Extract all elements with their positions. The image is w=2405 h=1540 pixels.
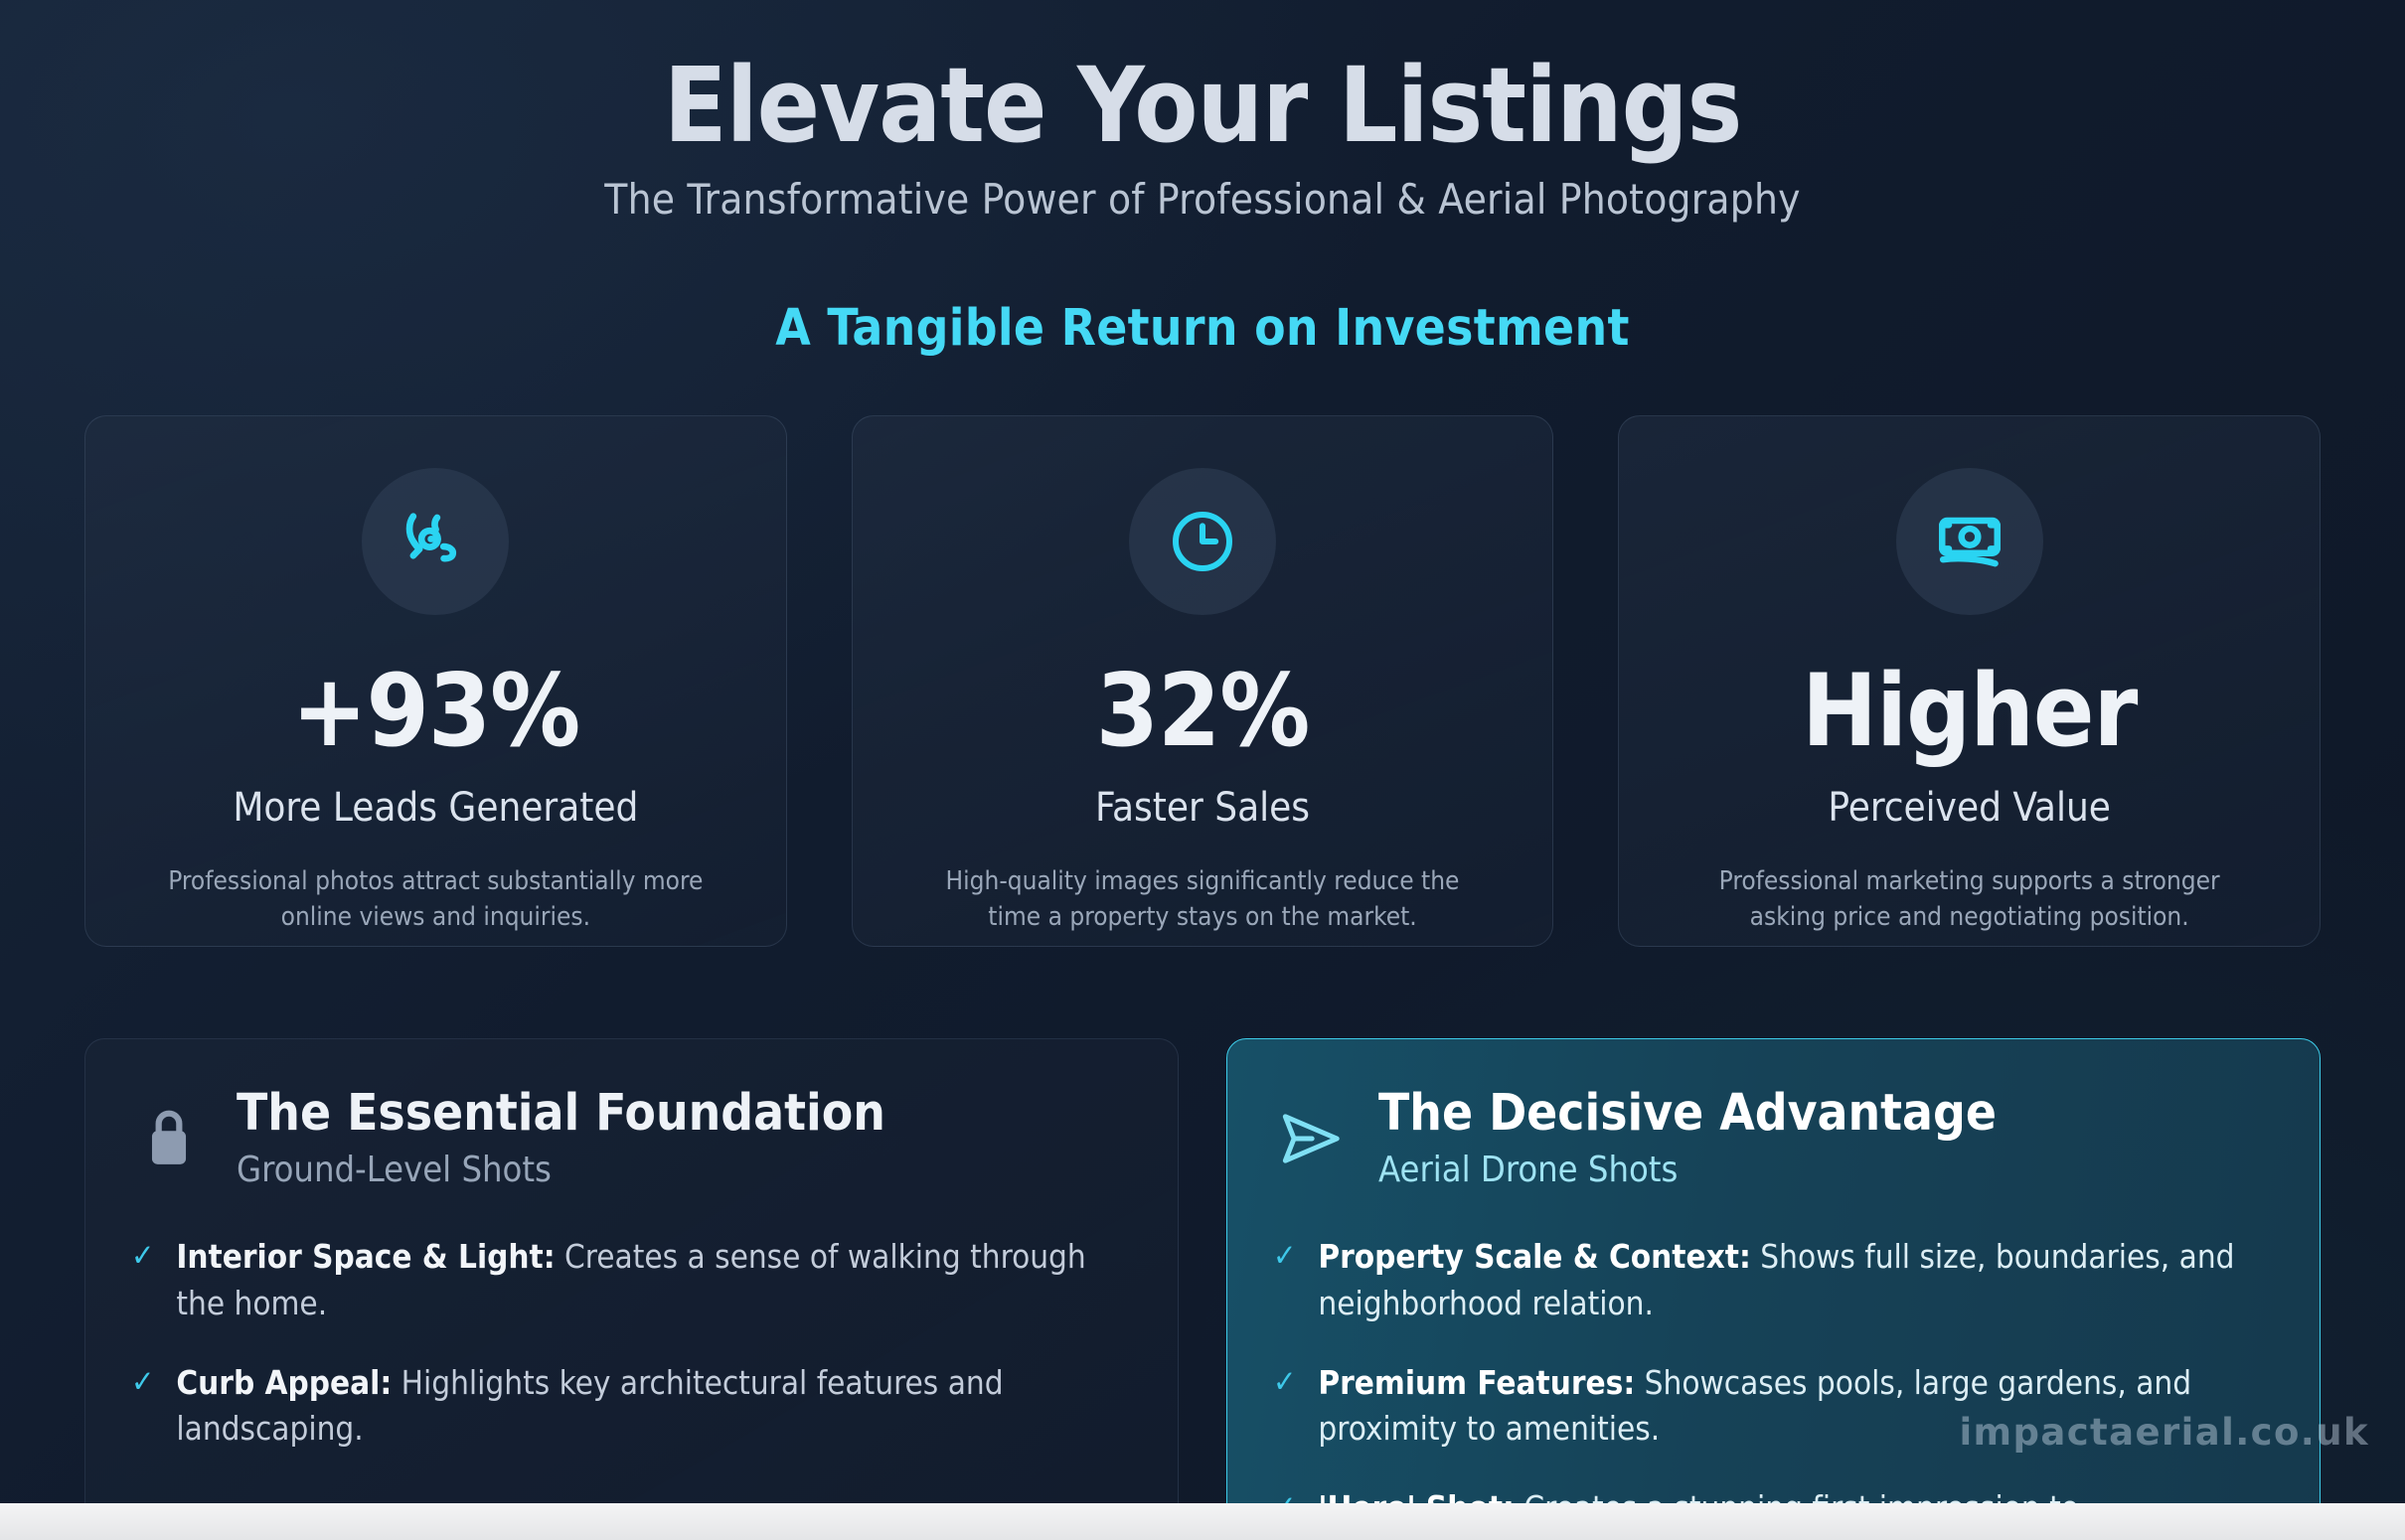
panel-subtitle: Aerial Drone Shots [1378, 1150, 1997, 1190]
list-item: ✓ Property Scale & Context: Shows full s… [1273, 1234, 2268, 1327]
panel-title: The Decisive Advantage [1378, 1087, 1997, 1141]
stat-card-leads: +93% More Leads Generated Professional p… [84, 415, 787, 947]
list-item: ✓ Interior Space & Light: Creates a sens… [131, 1234, 1126, 1327]
stat-card-group: +93% More Leads Generated Professional p… [0, 415, 2405, 947]
check-icon: ✓ [131, 1234, 154, 1327]
check-icon: ✓ [1273, 1234, 1296, 1327]
lock-icon [131, 1105, 207, 1172]
panel-title: The Essential Foundation [237, 1087, 885, 1141]
list-item-term: Property Scale & Context: [1318, 1237, 1750, 1276]
infographic-page: Elevate Your Listings The Transformative… [0, 0, 2405, 1503]
list-item-term: Premium Features: [1318, 1363, 1635, 1402]
list-item-body: Creates a stunning first impression to [1515, 1488, 2079, 1503]
panel-header: The Essential Foundation Ground-Level Sh… [131, 1087, 1126, 1190]
check-icon: ✓ [1273, 1360, 1296, 1454]
stat-card-perceived-value: Higher Perceived Value Professional mark… [1618, 415, 2321, 947]
stat-label: Faster Sales [1095, 785, 1310, 831]
stat-label: Perceived Value [1828, 785, 2111, 831]
list-item-text: Interior Space & Light: Creates a sense … [176, 1234, 1126, 1327]
stat-value: 32% [1096, 661, 1310, 761]
page-header: Elevate Your Listings The Transformative… [0, 0, 2405, 224]
list-item-term: Curb Appeal: [176, 1363, 392, 1402]
list-item-term: 'Hero' Shot: [1318, 1488, 1515, 1503]
stat-value: Higher [1802, 661, 2137, 761]
panel-bullet-list: ✓ Interior Space & Light: Creates a sens… [131, 1234, 1126, 1453]
clock-icon [1129, 468, 1276, 615]
panel-essential-foundation: The Essential Foundation Ground-Level Sh… [84, 1038, 1179, 1503]
panel-bullet-list: ✓ Property Scale & Context: Shows full s… [1273, 1234, 2268, 1503]
stat-label: More Leads Generated [233, 785, 638, 831]
bottom-strip [0, 1503, 2405, 1540]
panel-header: The Decisive Advantage Aerial Drone Shot… [1273, 1087, 2268, 1190]
list-item: ✓ 'Hero' Shot: Creates a stunning first … [1273, 1485, 2268, 1503]
list-item-term: Interior Space & Light: [176, 1237, 555, 1276]
section-heading-roi: A Tangible Return on Investment [0, 299, 2405, 358]
watermark: impactaerial.co.uk [1959, 1411, 2369, 1454]
stat-description: Professional photos attract substantiall… [159, 864, 713, 935]
stat-card-faster-sales: 32% Faster Sales High-quality images sig… [852, 415, 1554, 947]
list-item-text: 'Hero' Shot: Creates a stunning first im… [1318, 1485, 2079, 1503]
check-icon: ✓ [1273, 1485, 1296, 1503]
stat-description: High-quality images significantly reduce… [926, 864, 1480, 935]
panel-subtitle: Ground-Level Shots [237, 1150, 885, 1190]
check-icon: ✓ [131, 1360, 154, 1454]
banknote-icon [1896, 468, 2043, 615]
page-subtitle: The Transformative Power of Professional… [0, 175, 2405, 224]
list-item-text: Property Scale & Context: Shows full siz… [1318, 1234, 2268, 1327]
trending-up-icon [362, 468, 509, 615]
page-title: Elevate Your Listings [0, 50, 2405, 161]
stat-value: +93% [292, 661, 580, 761]
list-item-text: Curb Appeal: Highlights key architectura… [176, 1360, 1126, 1454]
stat-description: Professional marketing supports a strong… [1692, 864, 2246, 935]
paper-plane-icon [1273, 1104, 1349, 1173]
list-item: ✓ Curb Appeal: Highlights key architectu… [131, 1360, 1126, 1454]
